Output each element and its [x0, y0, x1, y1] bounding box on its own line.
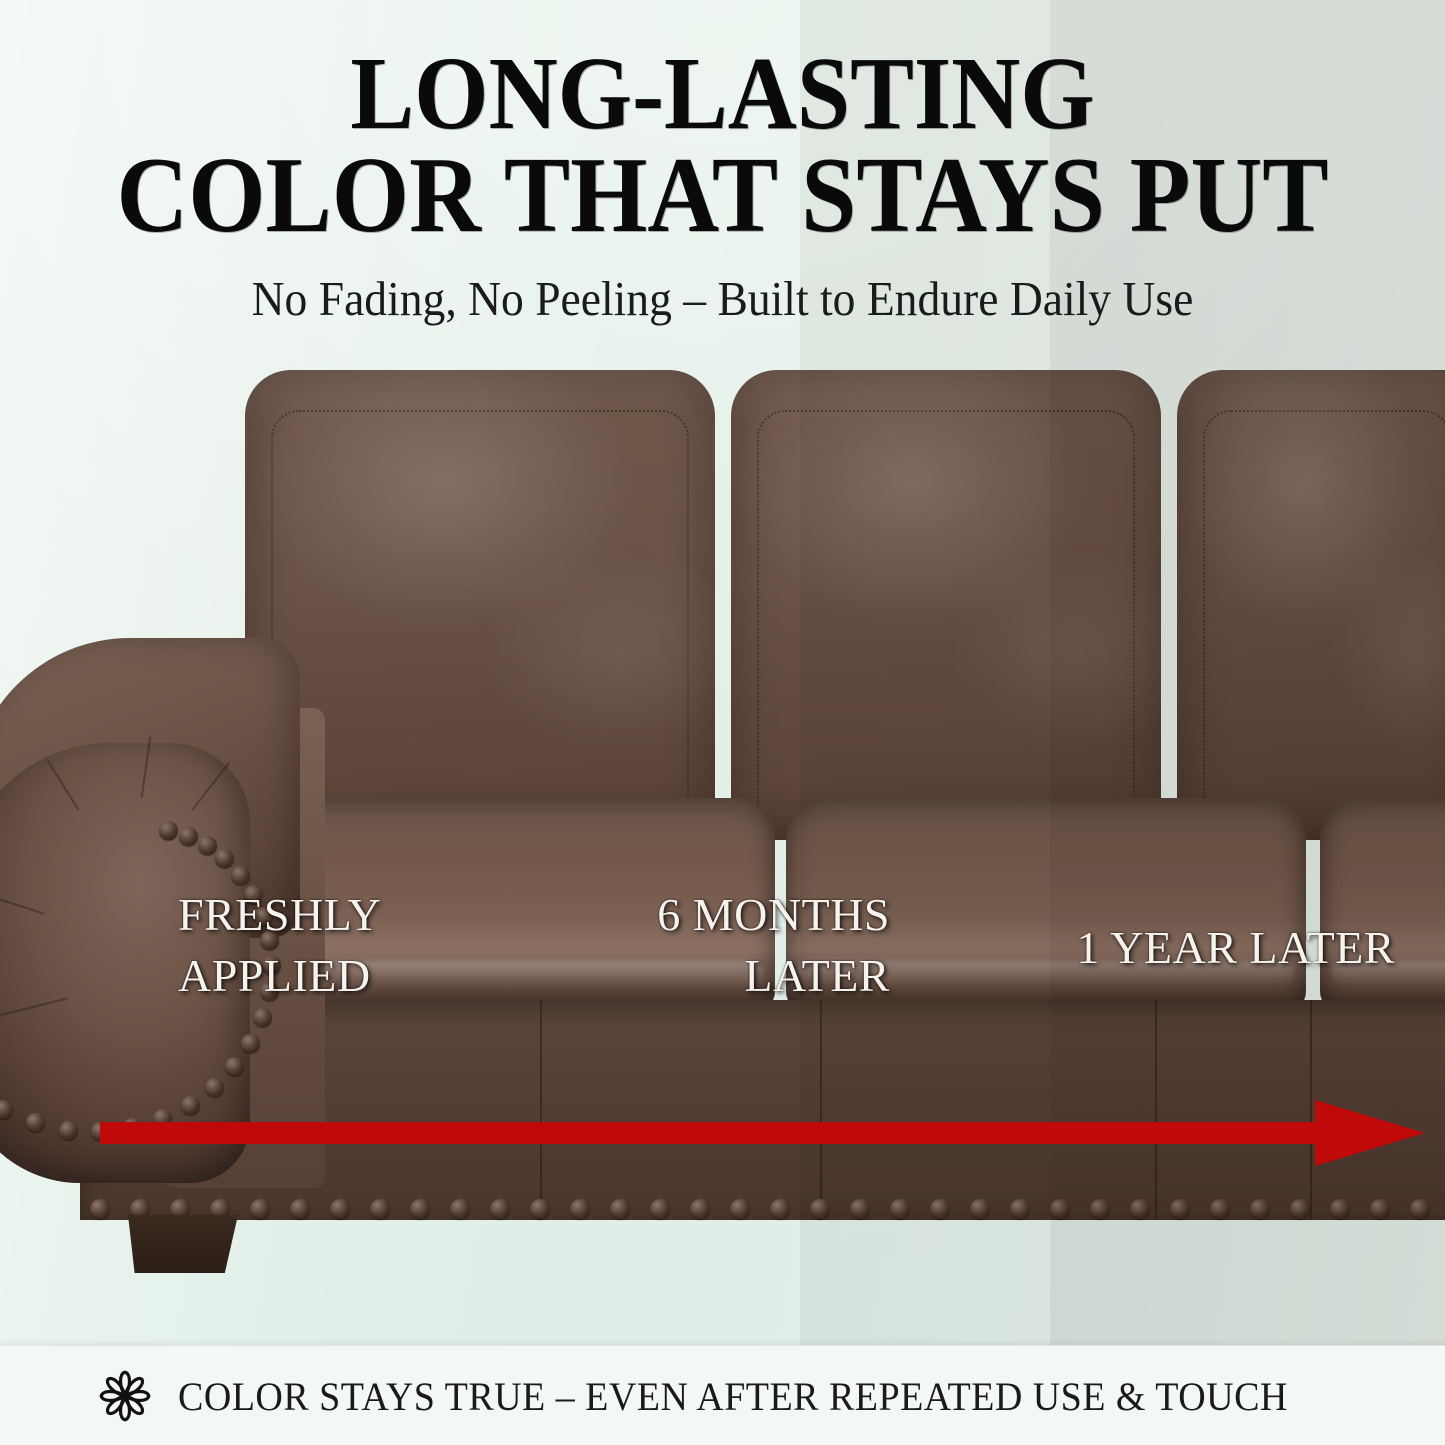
nailhead: [1170, 1199, 1190, 1219]
stage-label-one-year-later: 1 YEAR LATER: [1040, 918, 1395, 979]
nailhead: [0, 1100, 13, 1119]
nailhead: [215, 849, 234, 868]
nailhead: [241, 1034, 260, 1053]
nailhead: [450, 1199, 470, 1219]
nailhead: [1130, 1199, 1150, 1219]
nailhead: [1050, 1199, 1070, 1219]
nailhead: [198, 836, 217, 855]
nailhead: [810, 1199, 830, 1219]
subheadline: No Fading, No Peeling – Built to Endure …: [51, 274, 1395, 323]
stage-label-freshly-applied: FRESHLY APPLIED: [178, 885, 381, 1006]
nailhead: [179, 827, 198, 846]
nailhead: [330, 1199, 350, 1219]
nailhead: [490, 1199, 510, 1219]
sofa-wooden-foot: [128, 1215, 238, 1273]
nailhead: [1370, 1199, 1390, 1219]
nailhead: [650, 1199, 670, 1219]
nailhead: [26, 1113, 45, 1132]
nailhead: [1290, 1199, 1310, 1219]
nailhead: [1330, 1199, 1350, 1219]
stage-label-six-months-later: 6 MONTHS LATER: [560, 885, 890, 1006]
sofa-back-cushions: [245, 370, 1445, 840]
nailhead: [1250, 1199, 1270, 1219]
nailhead: [850, 1199, 870, 1219]
nailhead: [410, 1199, 430, 1219]
nailhead: [370, 1199, 390, 1219]
nailhead: [530, 1199, 550, 1219]
nailhead: [970, 1199, 990, 1219]
page-title: LONG-LASTING COLOR THAT STAYS PUT: [58, 44, 1387, 248]
nailhead: [690, 1199, 710, 1219]
nailhead: [205, 1078, 224, 1097]
nailhead: [770, 1199, 790, 1219]
back-cushion-2: [731, 370, 1161, 840]
nailhead: [159, 821, 178, 840]
flower-asterisk-icon: [98, 1369, 152, 1423]
footer-tagline: COLOR STAYS TRUE – EVEN AFTER REPEATED U…: [178, 1373, 1288, 1420]
arrow-right-icon: [100, 1100, 1425, 1170]
headline-line-2: COLOR THAT STAYS PUT: [58, 144, 1387, 248]
nailhead: [570, 1199, 590, 1219]
nailhead: [59, 1121, 78, 1140]
nailhead: [730, 1199, 750, 1219]
headline-line-1: LONG-LASTING: [350, 36, 1094, 151]
back-cushion-3: [1177, 370, 1445, 840]
nailhead: [890, 1199, 910, 1219]
seat-cushion-3: [1320, 798, 1445, 1013]
header-block: LONG-LASTING COLOR THAT STAYS PUT No Fad…: [0, 0, 1445, 323]
nailhead: [610, 1199, 630, 1219]
nailhead: [1010, 1199, 1030, 1219]
nailhead: [225, 1057, 244, 1076]
nailhead: [231, 866, 250, 885]
timeline-arrow: [100, 1100, 1425, 1170]
nailhead: [1410, 1199, 1430, 1219]
nailhead: [253, 1008, 272, 1027]
promotional-poster: LONG-LASTING COLOR THAT STAYS PUT No Fad…: [0, 0, 1445, 1445]
nailhead: [1090, 1199, 1110, 1219]
footer-bar: COLOR STAYS TRUE – EVEN AFTER REPEATED U…: [0, 1345, 1445, 1445]
nailhead: [1210, 1199, 1230, 1219]
nailhead: [930, 1199, 950, 1219]
